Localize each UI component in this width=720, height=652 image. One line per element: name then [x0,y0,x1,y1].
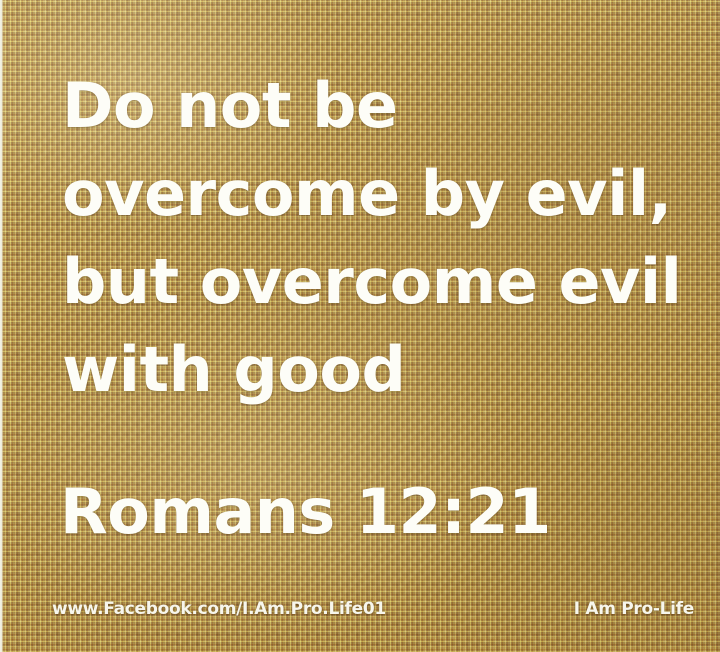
footer-credits: www.Facebook.com/I.Am.Pro.Life01 I Am Pr… [0,596,720,622]
verse-line-3: but overcome evil [62,238,702,326]
facebook-page-url: www.Facebook.com/I.Am.Pro.Life01 [52,599,386,619]
verse-line-4: with good [62,326,702,414]
verse-line-1: Do not be [62,62,702,150]
verse-text-block: Do not be overcome by evil, but overcome… [62,62,702,414]
scripture-reference: Romans 12:21 [60,472,551,552]
verse-line-2: overcome by evil, [62,150,702,238]
scripture-image-canvas: Do not be overcome by evil, but overcome… [0,0,720,652]
page-name-credit: I Am Pro-Life [574,599,694,619]
